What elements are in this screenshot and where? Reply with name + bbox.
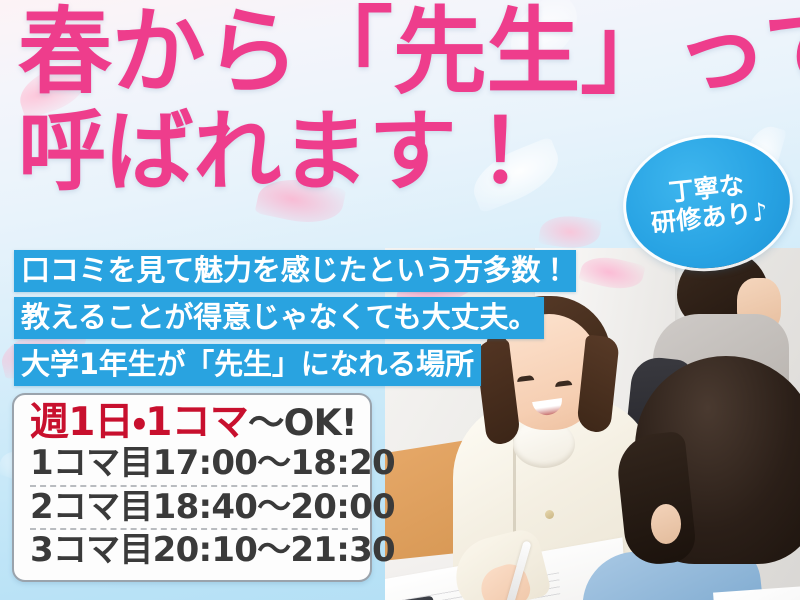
- banner-item-3: 大学1年生が「先生」になれる場所: [14, 344, 481, 386]
- banner-row: 口コミを見て魅力を感じたという方多数！: [14, 250, 576, 297]
- schedule-slot-1: 1コマ目17:00〜18:20: [30, 444, 358, 484]
- banner-row: 教えることが得意じゃなくても大丈夫。: [14, 297, 576, 344]
- schedule-title-highlight: 週1日・1コマ: [30, 400, 248, 445]
- banner-item-2: 教えることが得意じゃなくても大丈夫。: [14, 297, 544, 339]
- photo-cardigan-button: [545, 510, 554, 519]
- poster-root: 春から「先生」って 呼ばれます！ 丁寧な 研修あり♪ 口コミを見て魅力を感じたと…: [0, 0, 800, 600]
- headline-line-1: 春から「先生」って: [18, 8, 778, 98]
- banner-item-1: 口コミを見て魅力を感じたという方多数！: [14, 250, 576, 292]
- schedule-card-title: 週1日・1コマ〜OK!: [30, 402, 358, 443]
- photo-student-ear: [651, 504, 681, 544]
- schedule-slot-3: 3コマ目20:10〜21:30: [30, 528, 358, 571]
- schedule-card: 週1日・1コマ〜OK! 1コマ目17:00〜18:20 2コマ目18:40〜20…: [12, 393, 372, 582]
- training-badge-line-2: 研修あり♪: [650, 197, 770, 239]
- banner-list: 口コミを見て魅力を感じたという方多数！ 教えることが得意じゃなくても大丈夫。 大…: [14, 250, 576, 391]
- schedule-slot-2: 2コマ目18:40〜20:00: [30, 485, 358, 528]
- banner-row: 大学1年生が「先生」になれる場所: [14, 344, 576, 391]
- sakura-petal-icon: [538, 212, 602, 252]
- schedule-title-suffix: 〜OK!: [248, 401, 357, 444]
